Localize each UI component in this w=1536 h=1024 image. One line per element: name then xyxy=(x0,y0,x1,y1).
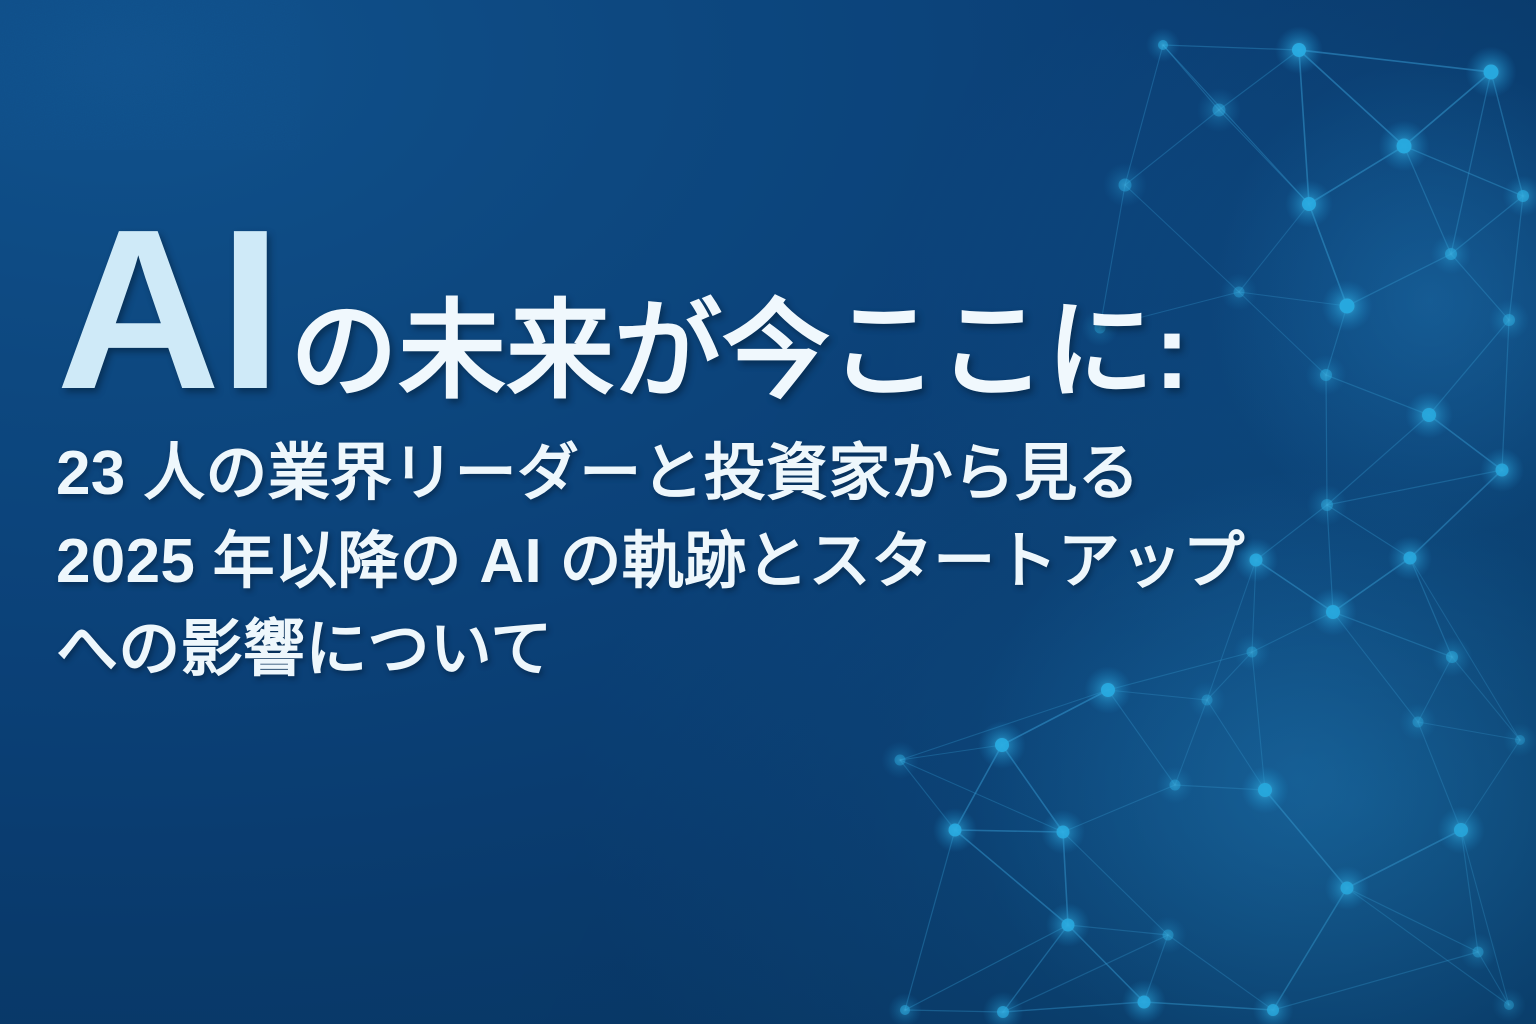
page-title: AIの未来が今ここに: xyxy=(56,196,1456,424)
headline-accent-ai: AI xyxy=(56,183,280,437)
subtitle-line-2: 2025 年以降の AI の軌跡とスタートアップ xyxy=(56,518,1456,606)
hero-banner: AIの未来が今ここに: 23 人の業界リーダーと投資家から見る 2025 年以降… xyxy=(0,0,1536,1024)
page-subtitle: 23 人の業界リーダーと投資家から見る 2025 年以降の AI の軌跡とスター… xyxy=(56,430,1456,694)
subtitle-line-3: への影響について xyxy=(56,606,1456,694)
subtitle-line-1: 23 人の業界リーダーと投資家から見る xyxy=(56,430,1456,518)
hero-text-block: AIの未来が今ここに: 23 人の業界リーダーと投資家から見る 2025 年以降… xyxy=(56,196,1456,694)
headline-rest: の未来が今ここに: xyxy=(290,290,1190,411)
